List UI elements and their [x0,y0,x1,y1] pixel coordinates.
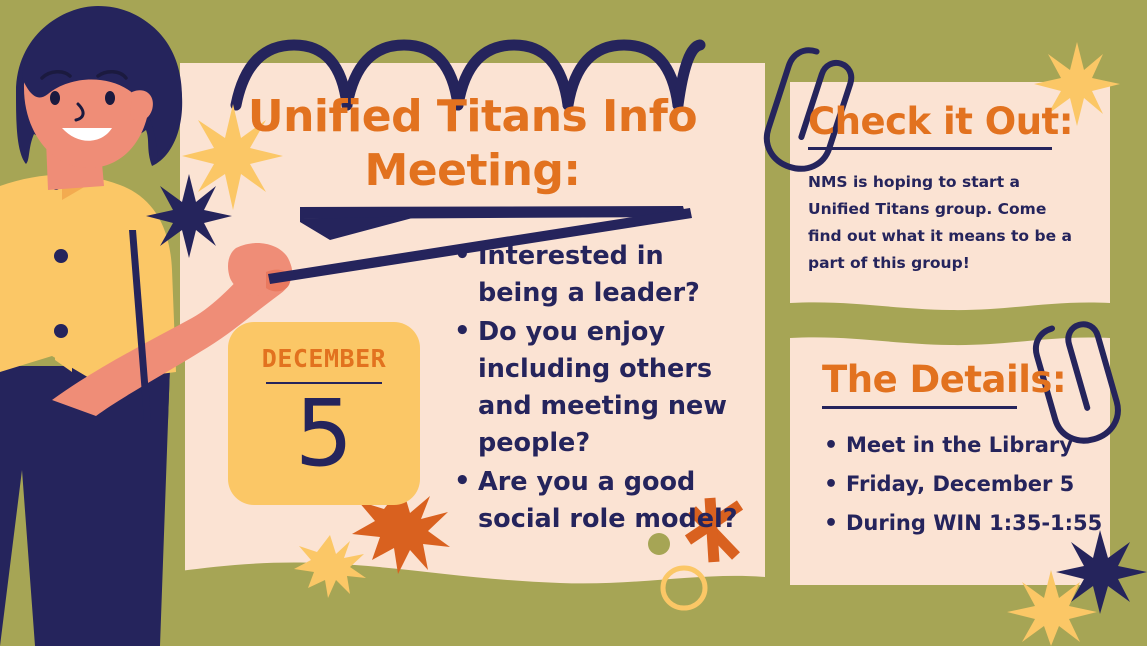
woman-hair-front [22,8,182,160]
the-details-divider [822,406,1017,409]
list-item: Meet in the Library [822,426,1112,465]
list-item: During WIN 1:35-1:55 [822,504,1112,543]
check-it-out-divider [808,147,1052,150]
check-it-out-body: NMS is hoping to start a Unified Titans … [808,169,1080,277]
list-item: Friday, December 5 [822,465,1112,504]
date-month: DECEMBER [228,344,420,373]
ring-yellow-outline [663,568,705,608]
woman-smile [62,128,112,141]
list-item: Are you a good social role model? [452,464,752,538]
the-details-list: Meet in the Library Friday, December 5 D… [822,426,1112,543]
page-title: Unified Titans Info Meeting: [200,90,745,198]
page-title-line2: Meeting: [200,144,745,198]
the-details-panel: The Details: Meet in the Library Friday,… [822,358,1112,543]
pointer-stick-lower [129,230,151,420]
sparkle-yellow-bottom-right [1007,570,1097,646]
shirt-button [54,249,68,263]
check-it-out-panel: Check it Out: NMS is hoping to start a U… [808,100,1098,277]
woman-eye [105,91,115,105]
list-item: Do you enjoy including others and meetin… [452,314,752,462]
woman-shirt [0,175,176,382]
the-details-heading: The Details: [822,358,1112,401]
woman-eye [50,91,60,105]
page-title-line1: Unified Titans Info [200,90,745,144]
shirt-button [54,324,68,338]
woman-pants [0,366,170,646]
woman-hair-back [16,6,182,166]
check-it-out-heading: Check it Out: [808,100,1098,143]
shirt-button [52,182,60,190]
poster-canvas: Unified Titans Info Meeting: Interested … [0,0,1147,646]
date-day: 5 [228,384,420,484]
question-bullet-list: Interested in being a leader? Do you enj… [452,238,752,540]
date-card: DECEMBER 5 [228,322,420,505]
list-item: Interested in being a leader? [452,238,752,312]
woman-face [24,28,150,168]
